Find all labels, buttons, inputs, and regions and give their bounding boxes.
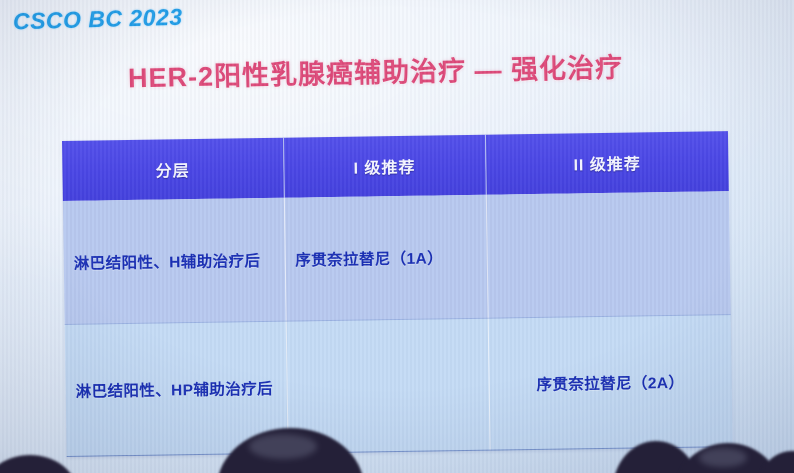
- cell-stratification: 淋巴结阳性、H辅助治疗后: [63, 198, 286, 325]
- table-row: 淋巴结阳性、HP辅助治疗后 序贯奈拉替尼（2A）: [65, 315, 733, 457]
- cell-level-2-recommendation: [486, 191, 731, 318]
- table-header-row: 分层 I 级推荐 II 级推荐: [62, 131, 729, 201]
- recommendation-table-wrapper: 分层 I 级推荐 II 级推荐 淋巴结阳性、H辅助治疗后 序贯奈拉替尼（1A） …: [62, 131, 733, 454]
- column-header-level-1: I 级推荐: [283, 135, 486, 198]
- cell-level-2-recommendation: 序贯奈拉替尼（2A）: [488, 315, 733, 451]
- table-body: 淋巴结阳性、H辅助治疗后 序贯奈拉替尼（1A） 淋巴结阳性、HP辅助治疗后 序贯…: [63, 191, 733, 456]
- screenshot-root: CSCO BC 2023 HER-2阳性乳腺癌辅助治疗 — 强化治疗 分层 I …: [0, 0, 794, 473]
- recommendation-table: 分层 I 级推荐 II 级推荐 淋巴结阳性、H辅助治疗后 序贯奈拉替尼（1A） …: [62, 131, 733, 457]
- conference-tag: CSCO BC 2023: [13, 4, 183, 36]
- column-header-level-2: II 级推荐: [485, 131, 729, 195]
- table-header: 分层 I 级推荐 II 级推荐: [62, 131, 729, 201]
- column-header-stratification: 分层: [62, 138, 284, 201]
- table-row: 淋巴结阳性、H辅助治疗后 序贯奈拉替尼（1A）: [63, 191, 731, 324]
- cell-level-1-recommendation: 序贯奈拉替尼（1A）: [284, 195, 488, 321]
